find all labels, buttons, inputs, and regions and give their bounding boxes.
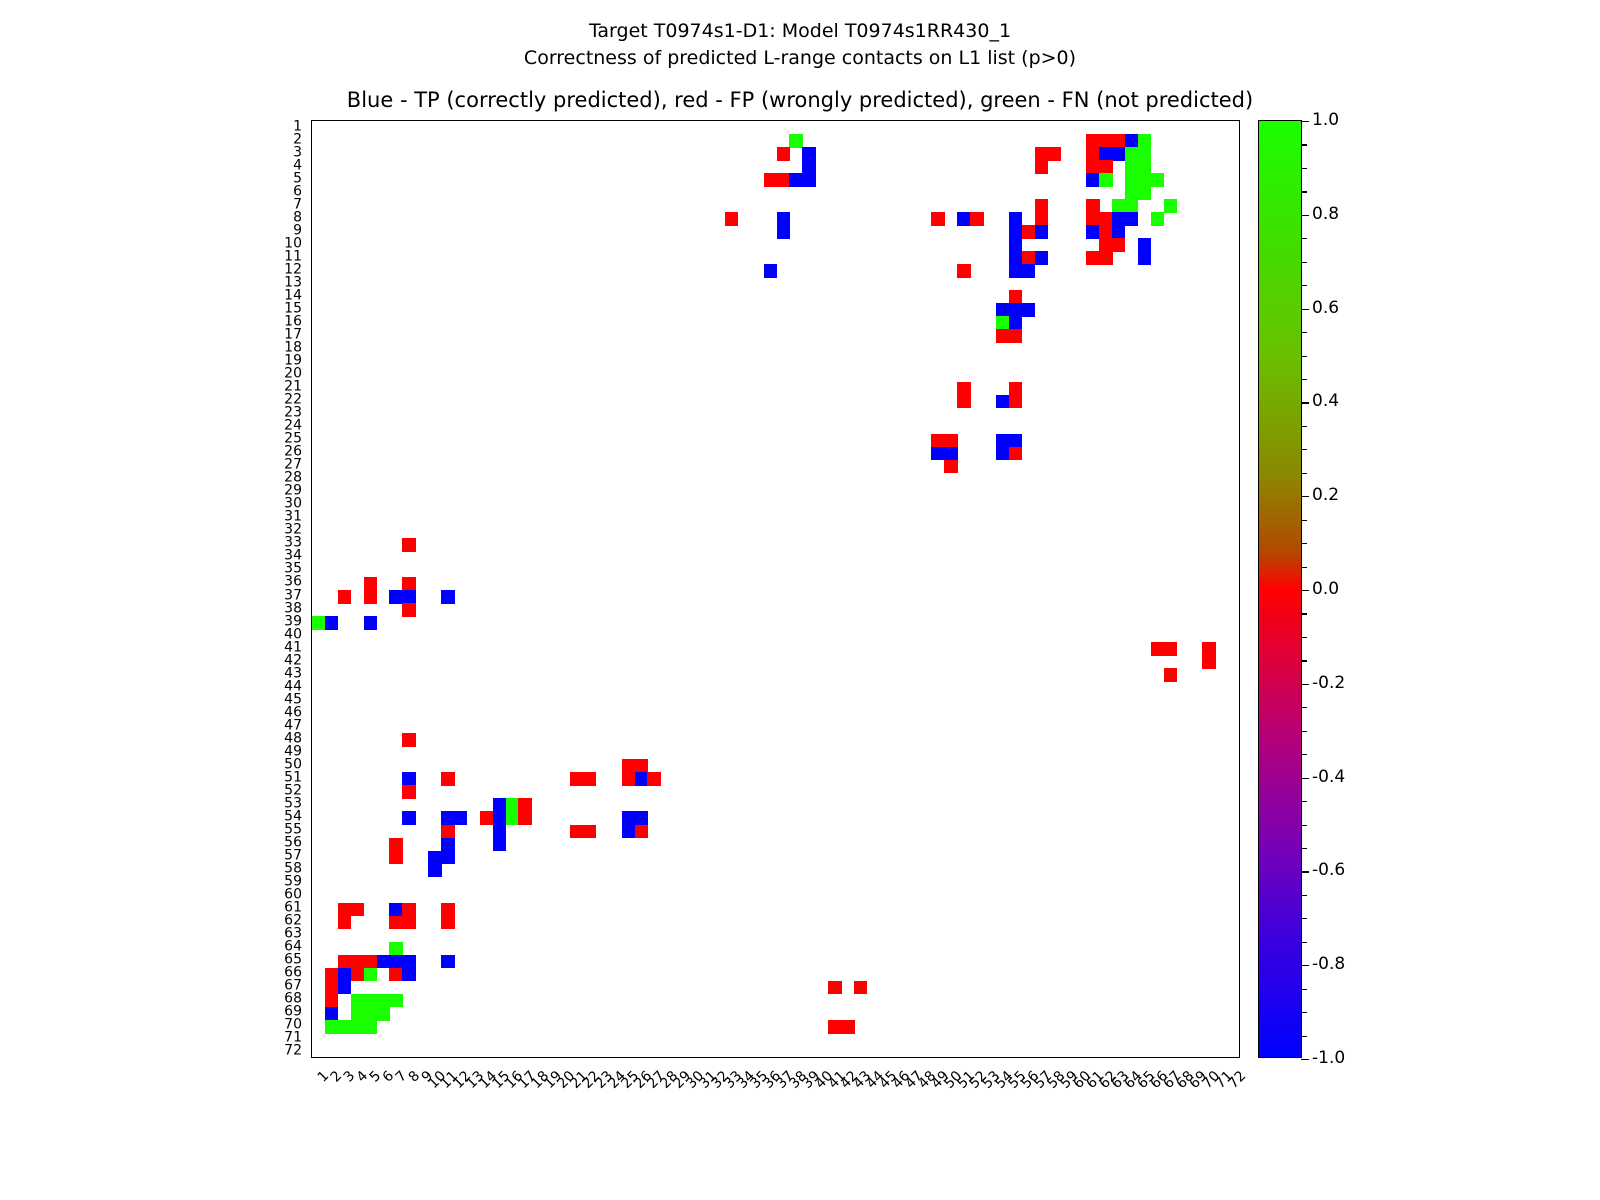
x-axis-tick: [525, 1057, 526, 1058]
contact-cell: [996, 395, 1010, 409]
contact-cell: [480, 811, 494, 825]
x-axis-tick: [1028, 1057, 1029, 1058]
contact-cell: [1112, 199, 1126, 213]
colorbar-minor-tick: [1301, 825, 1307, 826]
y-axis-tick-right: [1239, 518, 1240, 519]
contact-cell: [441, 838, 455, 852]
contact-cell: [944, 434, 958, 448]
contact-cell: [325, 968, 339, 982]
x-axis-tick: [783, 1057, 784, 1058]
x-axis-tick: [1157, 1057, 1158, 1058]
x-axis-tick: [1170, 1057, 1171, 1058]
contact-cell: [1009, 447, 1023, 461]
y-axis-tick: [311, 557, 312, 558]
x-axis-tick-top: [1222, 120, 1223, 121]
contact-cell: [377, 1007, 391, 1021]
contact-cell: [1112, 134, 1126, 148]
x-axis-tick-top: [589, 120, 590, 121]
contact-cell: [944, 460, 958, 474]
y-axis-tick-right: [1239, 818, 1240, 819]
x-axis-tick: [1015, 1057, 1016, 1058]
x-axis-tick: [577, 1057, 578, 1058]
x-axis-tick-top: [964, 120, 965, 121]
y-axis-tick: [311, 883, 312, 884]
y-axis-tick-right: [1239, 740, 1240, 741]
contact-cell: [389, 968, 403, 982]
y-axis-tick: [311, 922, 312, 923]
y-axis-tick: [311, 232, 312, 233]
x-axis-tick: [835, 1057, 836, 1058]
y-axis-tick-right: [1239, 323, 1240, 324]
contact-cell: [1086, 251, 1100, 265]
x-axis-tick: [344, 1057, 345, 1058]
contact-cell: [493, 811, 507, 825]
y-axis-tick: [311, 427, 312, 428]
contact-cell: [1125, 147, 1139, 161]
colorbar-minor-tick: [1301, 989, 1307, 990]
x-axis-tick-top: [447, 120, 448, 121]
y-axis-tick-right: [1239, 401, 1240, 402]
y-axis-tick-label: 72: [284, 1045, 302, 1058]
x-axis-tick-top: [835, 120, 836, 121]
x-axis-tick: [589, 1057, 590, 1058]
contact-cell: [1099, 147, 1113, 161]
y-axis-tick-right: [1239, 883, 1240, 884]
x-axis-tick: [667, 1057, 668, 1058]
contact-cell: [996, 316, 1010, 330]
x-axis-tick-top: [976, 120, 977, 121]
x-axis-tick: [564, 1057, 565, 1058]
y-axis-tick: [311, 870, 312, 871]
x-axis-tick-top: [667, 120, 668, 121]
y-axis-tick-right: [1239, 909, 1240, 910]
x-axis-tick: [757, 1057, 758, 1058]
y-axis-tick-right: [1239, 896, 1240, 897]
x-axis-tick: [409, 1057, 410, 1058]
x-axis-tick: [938, 1057, 939, 1058]
y-axis-tick: [311, 714, 312, 715]
y-axis-tick: [311, 649, 312, 650]
y-axis-tick: [311, 180, 312, 181]
x-axis-tick-top: [1157, 120, 1158, 121]
contact-cell: [1035, 225, 1049, 239]
contact-cell: [428, 864, 442, 878]
y-axis-tick-right: [1239, 1052, 1240, 1053]
y-axis-tick-right: [1239, 727, 1240, 728]
contact-cell: [389, 916, 403, 930]
x-axis-tick-top: [331, 120, 332, 121]
x-axis-tick: [744, 1057, 745, 1058]
colorbar-tick-label: 0.6: [1312, 298, 1339, 318]
colorbar-tick-label: 0.8: [1312, 204, 1339, 224]
contact-cell: [1022, 264, 1036, 278]
x-axis-tick-top: [564, 120, 565, 121]
contact-cell: [1112, 225, 1126, 239]
y-axis-tick-right: [1239, 466, 1240, 467]
y-axis-tick-right: [1239, 375, 1240, 376]
contact-cell: [493, 838, 507, 852]
contact-cell: [789, 173, 803, 187]
contact-cell: [802, 147, 816, 161]
contact-cell: [635, 772, 649, 786]
x-axis-tick-top: [1028, 120, 1029, 121]
y-axis-tick: [311, 1000, 312, 1001]
contact-cell: [1086, 212, 1100, 226]
y-axis-tick-right: [1239, 180, 1240, 181]
y-axis-tick: [311, 284, 312, 285]
x-axis-tick-top: [1196, 120, 1197, 121]
y-axis-tick: [311, 505, 312, 506]
colorbar-minor-tick: [1301, 285, 1307, 286]
contact-cell: [1099, 225, 1113, 239]
contact-cell: [570, 825, 584, 839]
contact-cell: [1035, 147, 1049, 161]
contact-cell: [996, 447, 1010, 461]
contact-cell: [441, 955, 455, 969]
contact-cell: [1202, 642, 1216, 656]
x-axis-tick-top: [473, 120, 474, 121]
x-axis-tick: [1067, 1057, 1068, 1058]
x-axis-tick-top: [499, 120, 500, 121]
contact-cell: [996, 329, 1010, 343]
contact-cell: [377, 955, 391, 969]
contact-cell: [1009, 434, 1023, 448]
x-axis-tick: [1118, 1057, 1119, 1058]
contact-cell: [325, 981, 339, 995]
x-axis-tick: [447, 1057, 448, 1058]
colorbar-minor-tick: [1301, 168, 1307, 169]
contact-cell: [1086, 199, 1100, 213]
y-axis-tick-right: [1239, 649, 1240, 650]
contact-cell: [570, 772, 584, 786]
contact-cell: [764, 173, 778, 187]
x-axis-tick-top: [615, 120, 616, 121]
y-axis-tick: [311, 1026, 312, 1027]
colorbar-minor-tick: [1301, 449, 1307, 450]
contact-cell: [1009, 329, 1023, 343]
contact-cell: [351, 1007, 365, 1021]
contact-cell: [1164, 199, 1178, 213]
contact-cell: [1009, 290, 1023, 304]
contact-cell: [338, 1020, 352, 1034]
contact-cell: [402, 968, 416, 982]
y-axis-tick: [311, 740, 312, 741]
contact-cell: [1138, 173, 1152, 187]
colorbar[interactable]: [1258, 120, 1302, 1058]
x-axis-tick-top: [1235, 120, 1236, 121]
contact-cell: [828, 981, 842, 995]
contact-cell: [777, 173, 791, 187]
contact-cell: [1009, 212, 1023, 226]
y-axis-tick-right: [1239, 766, 1240, 767]
y-axis-tick: [311, 662, 312, 663]
contact-cell: [777, 225, 791, 239]
y-axis-tick: [311, 909, 312, 910]
contact-cell: [996, 303, 1010, 317]
x-axis-tick: [1183, 1057, 1184, 1058]
x-axis-tick-top: [731, 120, 732, 121]
y-axis-tick: [311, 636, 312, 637]
contact-cell: [854, 981, 868, 995]
contact-cell: [1009, 303, 1023, 317]
y-axis-tick: [311, 544, 312, 545]
contact-cell: [957, 264, 971, 278]
y-axis-tick-right: [1239, 987, 1240, 988]
x-axis-tick: [435, 1057, 436, 1058]
contact-cell: [389, 994, 403, 1008]
contact-cell: [944, 447, 958, 461]
contact-cell: [402, 916, 416, 930]
contact-cell: [1138, 186, 1152, 200]
colorbar-minor-tick: [1301, 942, 1307, 943]
contact-cell: [1099, 212, 1113, 226]
contact-cell: [1151, 212, 1165, 226]
colorbar-tick-label: -0.4: [1312, 767, 1345, 787]
x-axis-tick-top: [847, 120, 848, 121]
y-axis-tick: [311, 323, 312, 324]
y-axis-tick: [311, 675, 312, 676]
colorbar-minor-tick: [1301, 660, 1307, 661]
colorbar-minor-tick: [1301, 918, 1307, 919]
contact-cell: [635, 825, 649, 839]
y-axis-tick: [311, 818, 312, 819]
x-axis-tick: [1144, 1057, 1145, 1058]
contact-cell: [1086, 225, 1100, 239]
contact-cell: [1125, 134, 1139, 148]
y-axis-tick-right: [1239, 141, 1240, 142]
colorbar-tick: [1301, 309, 1309, 310]
contact-cell: [402, 577, 416, 591]
x-axis-tick-top: [925, 120, 926, 121]
axes-title: Blue - TP (correctly predicted), red - F…: [0, 88, 1600, 112]
x-axis-tick: [473, 1057, 474, 1058]
x-axis-tick-top: [396, 120, 397, 121]
colorbar-tick: [1301, 1059, 1309, 1060]
y-axis-tick-right: [1239, 922, 1240, 923]
x-axis-tick: [538, 1057, 539, 1058]
contact-cell: [351, 968, 365, 982]
contact-cell: [402, 955, 416, 969]
colorbar-tick-label: -0.2: [1312, 673, 1345, 693]
contact-cell: [402, 590, 416, 604]
contact-cell: [1022, 251, 1036, 265]
y-axis-tick: [311, 479, 312, 480]
y-axis-tick: [311, 375, 312, 376]
x-axis-tick: [860, 1057, 861, 1058]
x-axis-tick-top: [409, 120, 410, 121]
y-axis-tick: [311, 844, 312, 845]
x-axis-tick: [486, 1057, 487, 1058]
contact-cell: [1035, 251, 1049, 265]
contact-map-plot[interactable]: [311, 120, 1240, 1058]
contact-cell: [1086, 173, 1100, 187]
y-axis-tick-right: [1239, 805, 1240, 806]
y-axis-tick: [311, 362, 312, 363]
x-axis-tick-top: [1080, 120, 1081, 121]
colorbar-tick: [1301, 496, 1309, 497]
colorbar-tick: [1301, 965, 1309, 966]
contact-cell: [364, 577, 378, 591]
contact-cell: [1035, 212, 1049, 226]
contact-cell: [441, 772, 455, 786]
contact-cell: [583, 772, 597, 786]
y-axis-tick-right: [1239, 831, 1240, 832]
x-axis-tick: [925, 1057, 926, 1058]
y-axis-tick: [311, 1013, 312, 1014]
y-axis-tick: [311, 349, 312, 350]
y-axis-tick-right: [1239, 610, 1240, 611]
contact-cell: [364, 590, 378, 604]
y-axis-tick-right: [1239, 531, 1240, 532]
x-axis-tick-top: [886, 120, 887, 121]
y-axis-tick: [311, 128, 312, 129]
contact-cell: [1099, 160, 1113, 174]
contact-cell: [647, 772, 661, 786]
contact-cell: [441, 903, 455, 917]
contact-cell: [1202, 655, 1216, 669]
y-axis-tick: [311, 792, 312, 793]
x-axis-tick-top: [1067, 120, 1068, 121]
contact-cell: [338, 955, 352, 969]
colorbar-tick-label: 0.2: [1312, 485, 1339, 505]
contact-cell: [377, 994, 391, 1008]
contact-cell: [622, 772, 636, 786]
x-axis-tick: [731, 1057, 732, 1058]
x-axis-tick: [1041, 1057, 1042, 1058]
y-axis-tick: [311, 688, 312, 689]
contact-cell: [1151, 173, 1165, 187]
y-axis-tick-right: [1239, 544, 1240, 545]
colorbar-minor-tick: [1301, 731, 1307, 732]
y-axis-tick-right: [1239, 167, 1240, 168]
contact-cell: [957, 382, 971, 396]
contact-cell: [338, 916, 352, 930]
x-axis-tick-top: [1118, 120, 1119, 121]
contact-cell: [931, 447, 945, 461]
x-axis-tick: [1222, 1057, 1223, 1058]
x-axis-tick: [886, 1057, 887, 1058]
y-axis-tick: [311, 974, 312, 975]
x-axis-tick-top: [860, 120, 861, 121]
y-axis-tick-right: [1239, 623, 1240, 624]
x-axis-tick: [383, 1057, 384, 1058]
contact-cell: [1125, 199, 1139, 213]
contact-cell: [441, 825, 455, 839]
contact-cell: [1099, 238, 1113, 252]
x-axis-tick-top: [809, 120, 810, 121]
figure-canvas: Target T0974s1-D1: Model T0974s1RR430_1 …: [0, 0, 1600, 1200]
contact-cell: [338, 590, 352, 604]
contact-cell: [1047, 147, 1061, 161]
y-axis-tick-right: [1239, 935, 1240, 936]
x-axis-tick-top: [435, 120, 436, 121]
y-axis-tick: [311, 1039, 312, 1040]
y-axis-tick: [311, 453, 312, 454]
contact-cell: [338, 981, 352, 995]
x-axis-tick-top: [1041, 120, 1042, 121]
contact-cell: [1125, 186, 1139, 200]
contact-cell: [364, 1020, 378, 1034]
colorbar-tick-label: 1.0: [1312, 110, 1339, 130]
x-axis-tick-top: [383, 120, 384, 121]
x-axis-tick-top: [989, 120, 990, 121]
y-axis-tick-right: [1239, 714, 1240, 715]
y-axis-tick: [311, 271, 312, 272]
x-axis-tick-top: [1170, 120, 1171, 121]
contact-cell: [1009, 316, 1023, 330]
y-axis-tick: [311, 154, 312, 155]
y-axis-tick: [311, 831, 312, 832]
contact-cell: [1009, 395, 1023, 409]
y-axis-tick-right: [1239, 245, 1240, 246]
y-axis-tick: [311, 440, 312, 441]
x-axis-tick: [976, 1057, 977, 1058]
x-axis-tick-top: [654, 120, 655, 121]
colorbar-minor-tick: [1301, 801, 1307, 802]
x-axis-tick-top: [1131, 120, 1132, 121]
colorbar-tick: [1301, 215, 1309, 216]
x-axis-tick-top: [641, 120, 642, 121]
contact-cell: [1164, 642, 1178, 656]
x-axis-tick: [615, 1057, 616, 1058]
colorbar-minor-tick: [1301, 379, 1307, 380]
colorbar-tick-label: -0.6: [1312, 860, 1345, 880]
contact-cell: [1112, 147, 1126, 161]
contact-cell: [764, 264, 778, 278]
colorbar-tick: [1301, 778, 1309, 779]
contact-cell: [402, 785, 416, 799]
contact-cell: [364, 994, 378, 1008]
x-axis-tick-top: [486, 120, 487, 121]
y-axis-tick: [311, 310, 312, 311]
x-axis-tick: [809, 1057, 810, 1058]
contact-cell: [725, 212, 739, 226]
x-axis-tick: [499, 1057, 500, 1058]
colorbar-tick-label: 0.0: [1312, 579, 1339, 599]
contact-cell: [1125, 160, 1139, 174]
contact-cell: [1164, 668, 1178, 682]
colorbar-tick-label: 0.4: [1312, 391, 1339, 411]
x-axis-tick-top: [873, 120, 874, 121]
y-axis-tick-right: [1239, 688, 1240, 689]
contact-cell: [1138, 147, 1152, 161]
y-axis-tick-right: [1239, 870, 1240, 871]
y-axis-tick-right: [1239, 753, 1240, 754]
contact-cell: [931, 212, 945, 226]
x-axis-tick-top: [680, 120, 681, 121]
y-axis-tick-right: [1239, 388, 1240, 389]
contact-cell: [351, 1020, 365, 1034]
contact-cell: [1035, 160, 1049, 174]
x-axis-tick: [422, 1057, 423, 1058]
x-axis-tick-top: [744, 120, 745, 121]
x-axis-tick: [693, 1057, 694, 1058]
y-axis-tick-right: [1239, 440, 1240, 441]
contact-cell: [1086, 134, 1100, 148]
x-axis-tick: [460, 1057, 461, 1058]
x-axis-tick-top: [783, 120, 784, 121]
contact-cell: [389, 942, 403, 956]
contact-cell: [351, 955, 365, 969]
x-axis-tick: [357, 1057, 358, 1058]
x-axis-tick: [654, 1057, 655, 1058]
x-axis-tick-top: [1002, 120, 1003, 121]
y-axis-tick: [311, 466, 312, 467]
y-axis-tick-right: [1239, 128, 1240, 129]
x-axis-tick: [1196, 1057, 1197, 1058]
contact-cell: [364, 968, 378, 982]
contact-cell: [351, 903, 365, 917]
